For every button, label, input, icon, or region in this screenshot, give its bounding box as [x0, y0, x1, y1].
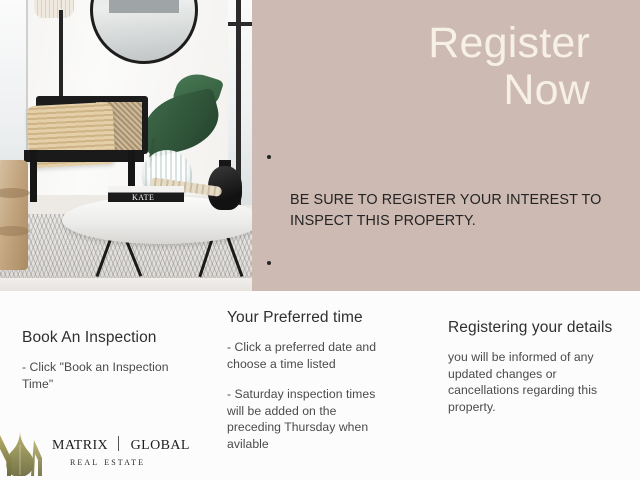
photo-chair-leg-left	[30, 150, 37, 202]
column-heading: Your Preferred time	[227, 308, 393, 327]
bullet-item: IF YOU DO NOT REGISTER FOR THE INSPECTIO…	[262, 254, 640, 291]
logo-name-right: Global	[131, 433, 190, 454]
interior-photo: KATE	[0, 0, 252, 291]
logo-name-left: Matrix	[52, 433, 108, 454]
poster-root: KATE Register Now BE SURE TO REGISTER YO…	[0, 0, 640, 480]
logo-brand-line: Matrix Global	[52, 433, 210, 454]
bullet-item: BE SURE TO REGISTER YOUR INTEREST TO INS…	[262, 148, 640, 232]
logo-tagline: Real Estate	[70, 456, 210, 469]
page-title: Register Now	[270, 20, 590, 114]
column-heading: Registering your details	[448, 318, 626, 337]
photo-pendant-lamp	[34, 0, 74, 18]
register-panel: Register Now BE SURE TO REGISTER YOUR IN…	[252, 0, 640, 291]
column-your-preferred-time: Your Preferred time - Click a preferred …	[227, 308, 393, 466]
logo-divider-icon	[118, 436, 119, 451]
photo-mirror-reflection-b	[109, 0, 179, 13]
column-body-text: you will be informed of any updated chan…	[448, 349, 626, 415]
bullet-dot-icon	[267, 155, 271, 159]
column-registering-your-details: Registering your details you will be inf…	[448, 318, 626, 429]
bullet-text: BE SURE TO REGISTER YOUR INTEREST TO INS…	[290, 192, 601, 229]
column-body-text: - Click a preferred date and choose a ti…	[227, 339, 393, 372]
column-body-text: - Click "Book an Inspection Time"	[22, 359, 197, 392]
instructions-band: Book An Inspection - Click "Book an Insp…	[0, 291, 640, 480]
photo-chair-seat	[24, 150, 144, 162]
photo-floor	[0, 278, 252, 291]
photo-window-mullion-top	[228, 22, 252, 26]
bullet-dot-icon	[267, 261, 271, 265]
column-book-an-inspection: Book An Inspection - Click "Book an Insp…	[22, 328, 197, 406]
column-heading: Book An Inspection	[22, 328, 197, 347]
brand-logo: Matrix Global Real Estate	[0, 429, 210, 477]
photo-book-title: KATE	[132, 193, 154, 202]
matrix-m-flame-icon	[0, 427, 52, 477]
logo-wordmark: Matrix Global Real Estate	[52, 433, 210, 469]
bullet-list: BE SURE TO REGISTER YOUR INTEREST TO INS…	[262, 148, 640, 291]
column-body-text-secondary: - Saturday inspection times will be adde…	[227, 386, 393, 452]
photo-wooden-stool	[0, 160, 28, 270]
top-band: KATE Register Now BE SURE TO REGISTER YO…	[0, 0, 640, 291]
